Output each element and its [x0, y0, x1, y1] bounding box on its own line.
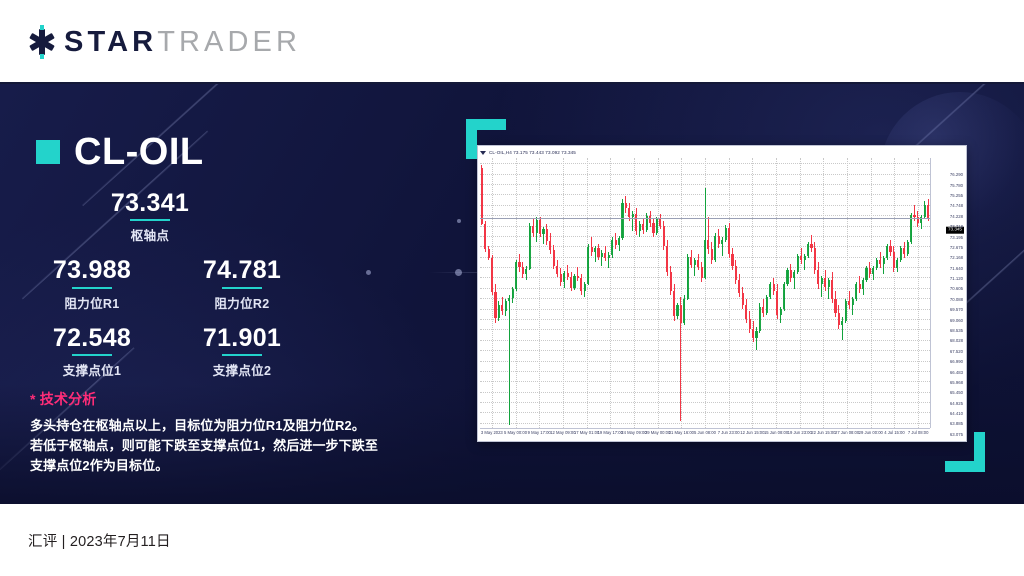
candle-body	[807, 244, 809, 256]
candle-body	[707, 240, 709, 249]
time-tick-label: 27 Jun 08:00	[835, 431, 859, 435]
candle-body	[834, 299, 836, 313]
candle-body	[776, 291, 778, 316]
time-tick-label: 24 May 09:00	[621, 431, 646, 435]
candle-body	[618, 238, 620, 244]
candle-body	[735, 266, 737, 280]
candle-body	[862, 280, 864, 288]
candle-body	[721, 240, 723, 244]
corner-bracket-bottom-right	[945, 432, 985, 472]
pivot-row-main: 73.341 枢轴点	[0, 190, 300, 257]
candle-body	[666, 246, 668, 273]
brand-word-star: STAR	[64, 26, 157, 58]
candle-body	[563, 273, 565, 282]
time-tick-label: 19 May 17:00	[598, 431, 623, 435]
candle-body	[804, 256, 806, 260]
candle-body	[597, 248, 599, 257]
candle-body	[690, 257, 692, 265]
analysis-body: 多头持仓在枢轴点以上，目标位为阻力位R1及阻力位R2。 若低于枢轴点，则可能下跌…	[30, 416, 410, 476]
decor-dot-2	[457, 219, 461, 223]
candle-body	[518, 262, 520, 267]
candle-body	[484, 224, 486, 249]
candle-body	[512, 289, 514, 298]
pivot-point-cell: 73.341 枢轴点	[100, 190, 200, 244]
candle-body	[670, 272, 672, 290]
price-tick-label: 71.120	[950, 277, 963, 281]
resistance-2-cell: 74.781 阻力位R2	[192, 257, 292, 311]
price-tick-label: 67.520	[950, 350, 963, 354]
candle-body	[663, 226, 665, 245]
candle-body	[883, 258, 885, 264]
pivot-point-value: 73.341	[111, 190, 189, 216]
support-2-cell: 71.901 支撑点位2	[192, 325, 292, 379]
current-price-line	[480, 218, 930, 219]
support-2-label: 支撑点位2	[213, 360, 271, 379]
candle-body	[501, 305, 503, 311]
support-1-underline	[72, 354, 112, 356]
candle-body	[546, 229, 548, 240]
candle-body	[522, 267, 524, 274]
price-tick-label: 69.570	[950, 308, 963, 312]
resistance-2-value: 74.781	[203, 257, 281, 283]
candle-body	[488, 249, 490, 258]
time-tick-label: 22 Jun 15:00	[811, 431, 835, 435]
technical-analysis: * 技术分析 多头持仓在枢轴点以上，目标位为阻力位R1及阻力位R2。 若低于枢轴…	[30, 389, 410, 476]
candle-body	[515, 262, 517, 289]
decor-dot-1	[366, 270, 371, 275]
price-tick-label: 70.088	[950, 298, 963, 302]
candle-body	[838, 313, 840, 325]
analysis-line-3: 支撑点位2作为目标位。	[30, 456, 410, 476]
candle-body	[494, 292, 496, 319]
time-tick-label: 5 Jun 08:00	[694, 431, 716, 435]
price-tick-label: 76.290	[950, 173, 963, 177]
candle-body	[841, 321, 843, 325]
candle-body	[687, 257, 689, 299]
candle-body	[718, 236, 720, 243]
asterisk-logo-icon	[27, 25, 57, 59]
candle-body	[683, 299, 685, 324]
price-tick-label: 71.640	[950, 266, 963, 270]
price-tick-label: 64.925	[950, 401, 963, 405]
candle-body	[601, 253, 603, 257]
price-tick-label: 64.410	[950, 412, 963, 416]
candle-body	[738, 280, 740, 292]
page-title-text: CL-OIL	[74, 133, 204, 171]
candle-body	[797, 256, 799, 272]
candle-body	[907, 242, 909, 254]
price-tick-label: 73.195	[950, 235, 963, 239]
time-tick-label: 29 Jun 00:00	[859, 431, 883, 435]
candle-body	[573, 276, 575, 287]
candle-body	[800, 256, 802, 260]
candle-body	[680, 305, 682, 323]
candle-body	[872, 268, 874, 274]
candle-body	[570, 277, 572, 287]
candle-body	[780, 309, 782, 315]
candlestick-series	[480, 158, 930, 428]
brand-word-trader: TRADER	[157, 26, 301, 58]
candle-body	[752, 329, 754, 337]
candle-body	[814, 248, 816, 270]
price-tick-label: 65.450	[950, 391, 963, 395]
candle-body	[824, 278, 826, 286]
candle-body	[903, 248, 905, 254]
candle-body	[539, 220, 541, 234]
candle-body	[728, 228, 730, 254]
resistance-1-label: 阻力位R1	[65, 293, 120, 312]
time-tick-label: 7 Jun 23:00	[718, 431, 740, 435]
price-tick-label: 72.675	[950, 246, 963, 250]
candle-body	[632, 214, 634, 217]
candle-body	[793, 272, 795, 278]
analysis-line-2: 若低于枢轴点，则可能下跌至支撑点位1，然后进一步下跌至	[30, 436, 410, 456]
candle-body	[725, 228, 727, 239]
candle-body	[529, 226, 531, 269]
candle-body	[649, 216, 651, 223]
square-marker-icon	[36, 140, 60, 164]
candle-body	[635, 214, 637, 231]
candle-body	[845, 301, 847, 321]
candle-body	[913, 215, 915, 217]
resistance-2-underline	[222, 287, 262, 289]
candle-body	[642, 224, 644, 230]
pivot-row-resistance: 73.988 阻力位R1 74.781 阻力位R2	[0, 257, 300, 324]
candle-body	[714, 236, 716, 259]
corner-bracket-top-left	[466, 119, 506, 159]
candle-body	[701, 267, 703, 278]
brand-logo: STARTRADER	[27, 25, 301, 59]
candle-body	[584, 284, 586, 290]
support-1-label: 支撑点位1	[63, 360, 121, 379]
candle-body	[560, 274, 562, 282]
candle-body	[900, 248, 902, 260]
candle-body	[889, 246, 891, 252]
support-2-value: 71.901	[203, 325, 281, 351]
price-tick-label: 66.990	[950, 360, 963, 364]
footer-caption: 汇评 | 2023年7月11日	[28, 530, 171, 551]
price-tick-label: 73.718	[950, 225, 963, 229]
candle-body	[896, 260, 898, 268]
candle-body	[924, 205, 926, 217]
candle-body	[639, 224, 641, 231]
candle-body	[673, 291, 675, 317]
candle-wick	[849, 291, 850, 309]
candle-body	[608, 255, 610, 258]
candle-body	[828, 280, 830, 286]
candle-body	[859, 284, 861, 288]
candle-body	[786, 270, 788, 284]
candle-body	[525, 269, 527, 274]
candle-body	[591, 247, 593, 252]
page-header: STARTRADER	[0, 0, 1024, 84]
time-tick-label: 9 May 17:00	[528, 431, 551, 435]
candle-body	[615, 240, 617, 245]
candle-body	[749, 319, 751, 329]
time-tick-label: 12 Jun 15:00	[740, 431, 764, 435]
time-tick-label: 12 May 09:00	[550, 431, 575, 435]
price-tick-label: 74.228	[950, 215, 963, 219]
price-tick-label: 74.748	[950, 204, 963, 208]
candle-body	[810, 244, 812, 248]
candle-body	[656, 219, 658, 233]
candle-body	[536, 220, 538, 233]
candle-body	[762, 307, 764, 313]
candle-body	[553, 250, 555, 266]
candle-wick	[509, 295, 510, 426]
candle-body	[532, 226, 534, 233]
price-tick-label: 65.968	[950, 381, 963, 385]
candle-body	[865, 268, 867, 280]
time-tick-label: 7 Jul 08:00	[908, 431, 929, 435]
time-tick-label: 17 May 01:00	[574, 431, 599, 435]
candle-body	[491, 258, 493, 292]
price-tick-label: 75.255	[950, 194, 963, 198]
resistance-1-underline	[72, 287, 112, 289]
candle-body	[773, 284, 775, 290]
candle-body	[876, 260, 878, 268]
candle-body	[790, 270, 792, 278]
candle-body	[852, 299, 854, 305]
candle-body	[556, 266, 558, 274]
candle-body	[704, 240, 706, 279]
analysis-line-1: 多头持仓在枢轴点以上，目标位为阻力位R1及阻力位R2。	[30, 416, 410, 436]
candle-body	[481, 168, 483, 224]
candle-body	[769, 284, 771, 296]
price-axis: 73.345 76.29075.78075.25574.74874.22873.…	[930, 158, 964, 428]
candle-body	[742, 293, 744, 305]
candle-body	[508, 298, 510, 301]
page-title: CL-OIL	[36, 133, 204, 171]
price-tick-label: 63.885	[950, 422, 963, 426]
candle-body	[879, 260, 881, 264]
time-tick-label: 31 May 16:00	[669, 431, 694, 435]
candle-body	[731, 254, 733, 266]
candle-body	[676, 305, 678, 316]
resistance-2-label: 阻力位R2	[215, 293, 270, 312]
candle-body	[831, 280, 833, 298]
brand-wordmark: STARTRADER	[64, 28, 301, 57]
resistance-1-value: 73.988	[53, 257, 131, 283]
candle-body	[927, 205, 929, 218]
time-tick-label: 29 May 00:00	[645, 431, 670, 435]
support-1-value: 72.548	[53, 325, 131, 351]
price-tick-label: 70.605	[950, 287, 963, 291]
page-footer: 汇评 | 2023年7月11日	[0, 504, 1024, 576]
candle-wick	[577, 267, 578, 281]
time-tick-label: 3 May 2023	[481, 431, 503, 435]
candle-body	[821, 278, 823, 284]
candle-body	[766, 297, 768, 313]
price-tick-label: 68.535	[950, 329, 963, 333]
candle-body	[542, 229, 544, 234]
candle-body	[659, 219, 661, 226]
candle-body	[594, 248, 596, 252]
decor-dot-5	[455, 269, 462, 276]
candle-body	[893, 252, 895, 268]
candle-body	[604, 253, 606, 258]
time-tick-label: 5 May 00:00	[504, 431, 527, 435]
logo-accent-square-top	[40, 25, 44, 30]
chart-plot-area[interactable]	[480, 158, 930, 428]
candle-body	[549, 241, 551, 250]
candle-body	[652, 223, 654, 233]
pivot-underline	[130, 219, 170, 221]
candle-body	[855, 284, 857, 298]
candle-body	[783, 284, 785, 309]
candle-body	[498, 305, 500, 318]
pivot-levels: 73.341 枢轴点 73.988 阻力位R1 74.781 阻力位R2 72.…	[0, 190, 300, 392]
candle-body	[886, 246, 888, 258]
time-tick-label: 19 Jun 23:00	[788, 431, 812, 435]
candle-body	[745, 305, 747, 319]
candle-body	[621, 203, 623, 239]
candle-body	[711, 249, 713, 260]
price-chart-panel[interactable]: CL-OIL,H4 73.175 73.443 73.092 73.345 73…	[477, 145, 967, 442]
price-tick-label: 72.168	[950, 256, 963, 260]
candle-body	[759, 307, 761, 332]
candle-body	[628, 208, 630, 217]
pivot-row-support: 72.548 支撑点位1 71.901 支撑点位2	[0, 325, 300, 392]
candle-body	[848, 301, 850, 305]
candle-body	[611, 240, 613, 255]
candle-body	[869, 268, 871, 274]
resistance-1-cell: 73.988 阻力位R1	[42, 257, 142, 311]
candle-body	[694, 260, 696, 265]
logo-accent-square-bottom	[40, 54, 44, 59]
time-axis: 3 May 20235 May 00:009 May 17:0012 May 0…	[480, 428, 930, 440]
candle-body	[697, 260, 699, 267]
candle-body	[505, 301, 507, 311]
support-2-underline	[222, 354, 262, 356]
candle-body	[580, 278, 582, 290]
candle-body	[625, 203, 627, 208]
candle-body	[587, 247, 589, 285]
candle-body	[577, 276, 579, 278]
candle-body	[755, 331, 757, 337]
time-tick-label: 15 Jun 08:00	[764, 431, 788, 435]
analysis-heading: * 技术分析	[30, 389, 410, 409]
price-tick-label: 75.780	[950, 183, 963, 187]
candle-body	[817, 270, 819, 284]
support-1-cell: 72.548 支撑点位1	[42, 325, 142, 379]
pivot-point-label: 枢轴点	[131, 225, 169, 244]
price-tick-label: 66.483	[950, 370, 963, 374]
price-tick-label: 69.060	[950, 318, 963, 322]
candle-body	[567, 273, 569, 277]
time-tick-label: 4 Jul 15:00	[884, 431, 905, 435]
price-tick-label: 68.028	[950, 339, 963, 343]
